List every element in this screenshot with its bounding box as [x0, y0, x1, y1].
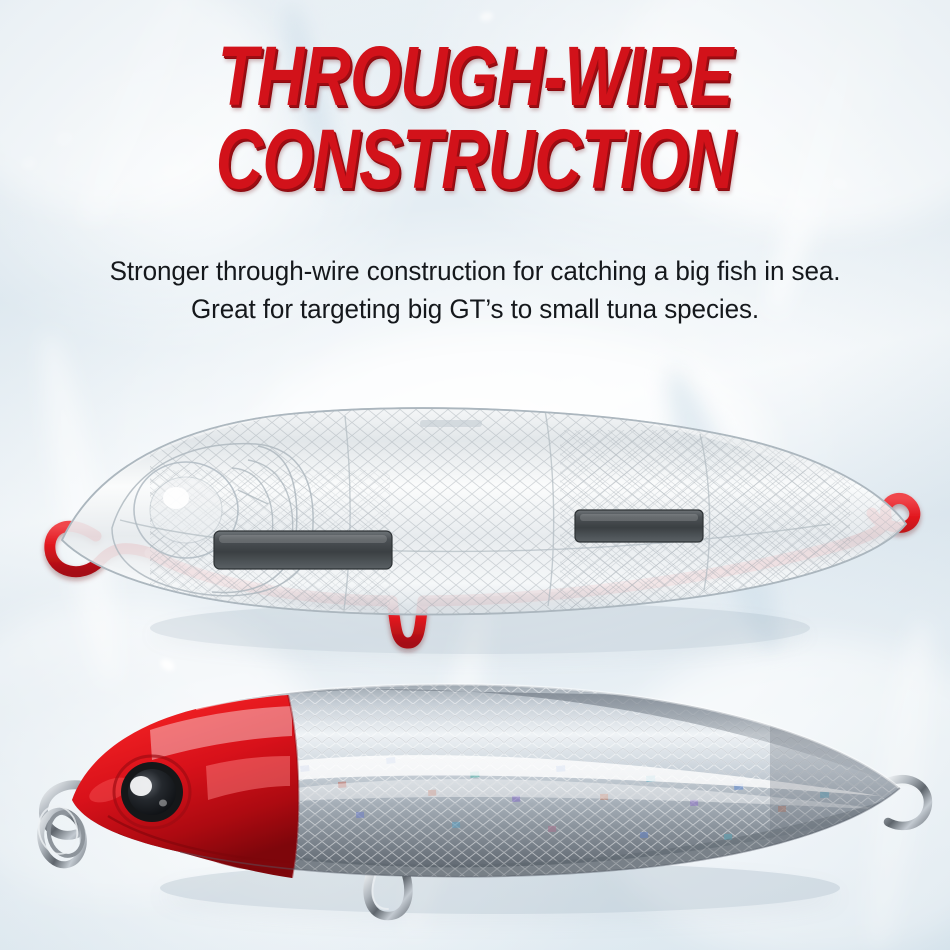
subtitle: Stronger through-wire construction for c… [0, 252, 950, 329]
headline-line-2: CONSTRUCTION [105, 119, 846, 200]
headline-line-1: THROUGH-WIRE [105, 36, 846, 117]
headline: THROUGH-WIRE CONSTRUCTION [0, 36, 950, 199]
product-infographic: THROUGH-WIRE CONSTRUCTION Stronger throu… [0, 0, 950, 950]
subtitle-line-2: Great for targeting big GT’s to small tu… [17, 290, 934, 328]
subtitle-line-1: Stronger through-wire construction for c… [17, 252, 934, 290]
